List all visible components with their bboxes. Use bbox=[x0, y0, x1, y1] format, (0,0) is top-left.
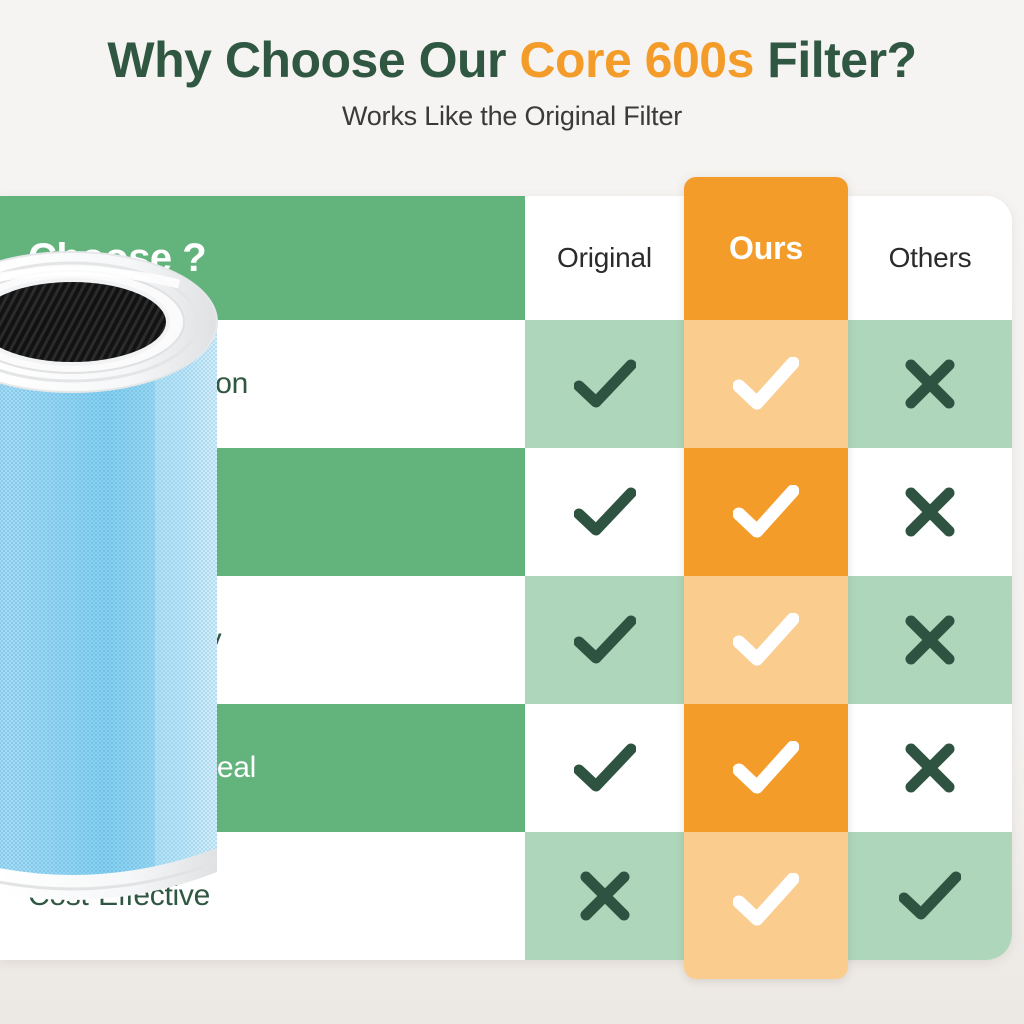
check-icon bbox=[574, 743, 636, 793]
cross-icon bbox=[903, 741, 957, 795]
feature-cell: Cost-Effective bbox=[0, 832, 525, 960]
cell-ours bbox=[684, 704, 848, 832]
header-label-choose: Choose ? bbox=[28, 236, 206, 281]
cell-others bbox=[848, 320, 1012, 448]
header-cell-original: Original bbox=[525, 196, 684, 320]
title-part-1: Why Choose Our bbox=[107, 32, 519, 88]
table-row: HEPA Filter bbox=[0, 448, 1012, 576]
feature-label: High Efficiency bbox=[28, 623, 221, 657]
header-cell-ours: Ours bbox=[684, 196, 848, 320]
page-title: Why Choose Our Core 600s Filter? bbox=[0, 34, 1024, 87]
cell-others bbox=[848, 448, 1012, 576]
table-row: Cost-Effective bbox=[0, 832, 1012, 960]
cell-others bbox=[848, 704, 1012, 832]
feature-label: Perfect Fit & Seal bbox=[28, 751, 256, 785]
comparison-table: Choose ? Original Ours Others 99.97% Fil… bbox=[0, 196, 1012, 960]
cell-original bbox=[525, 320, 684, 448]
header-cell-choose: Choose ? bbox=[0, 196, 525, 320]
cell-ours bbox=[684, 448, 848, 576]
header-label-others: Others bbox=[889, 242, 972, 274]
feature-cell: 99.97% Filtration bbox=[0, 320, 525, 448]
infographic-page: Why Choose Our Core 600s Filter? Works L… bbox=[0, 0, 1024, 1024]
cell-ours bbox=[684, 832, 848, 960]
table-row: High Efficiency bbox=[0, 576, 1012, 704]
header-label-ours: Ours bbox=[729, 240, 803, 277]
check-icon bbox=[574, 615, 636, 665]
feature-cell: HEPA Filter bbox=[0, 448, 525, 576]
feature-cell: High Efficiency bbox=[0, 576, 525, 704]
cell-original bbox=[525, 832, 684, 960]
cell-original bbox=[525, 576, 684, 704]
header-label-original: Original bbox=[557, 242, 652, 274]
cell-original bbox=[525, 704, 684, 832]
feature-label: Cost-Effective bbox=[28, 879, 210, 913]
feature-label: 99.97% Filtration bbox=[28, 367, 248, 401]
feature-label: HEPA Filter bbox=[28, 495, 178, 529]
cell-ours bbox=[684, 320, 848, 448]
table-header-row: Choose ? Original Ours Others bbox=[0, 196, 1012, 320]
page-subtitle: Works Like the Original Filter bbox=[0, 101, 1024, 132]
check-icon bbox=[574, 487, 636, 537]
heading-block: Why Choose Our Core 600s Filter? Works L… bbox=[0, 34, 1024, 132]
check-icon bbox=[574, 359, 636, 409]
comparison-table-wrap: Choose ? Original Ours Others 99.97% Fil… bbox=[0, 196, 1012, 960]
cell-original bbox=[525, 448, 684, 576]
cell-others bbox=[848, 576, 1012, 704]
cell-ours bbox=[684, 576, 848, 704]
cross-icon bbox=[903, 613, 957, 667]
check-icon bbox=[899, 871, 961, 921]
cross-icon bbox=[578, 869, 632, 923]
header-cell-others: Others bbox=[848, 196, 1012, 320]
cross-icon bbox=[903, 357, 957, 411]
table-row: Perfect Fit & Seal bbox=[0, 704, 1012, 832]
table-row: 99.97% Filtration bbox=[0, 320, 1012, 448]
cross-icon bbox=[903, 485, 957, 539]
title-accent-core600s: Core 600s bbox=[519, 32, 754, 88]
feature-cell: Perfect Fit & Seal bbox=[0, 704, 525, 832]
title-part-2: Filter? bbox=[754, 32, 917, 88]
cell-others bbox=[848, 832, 1012, 960]
